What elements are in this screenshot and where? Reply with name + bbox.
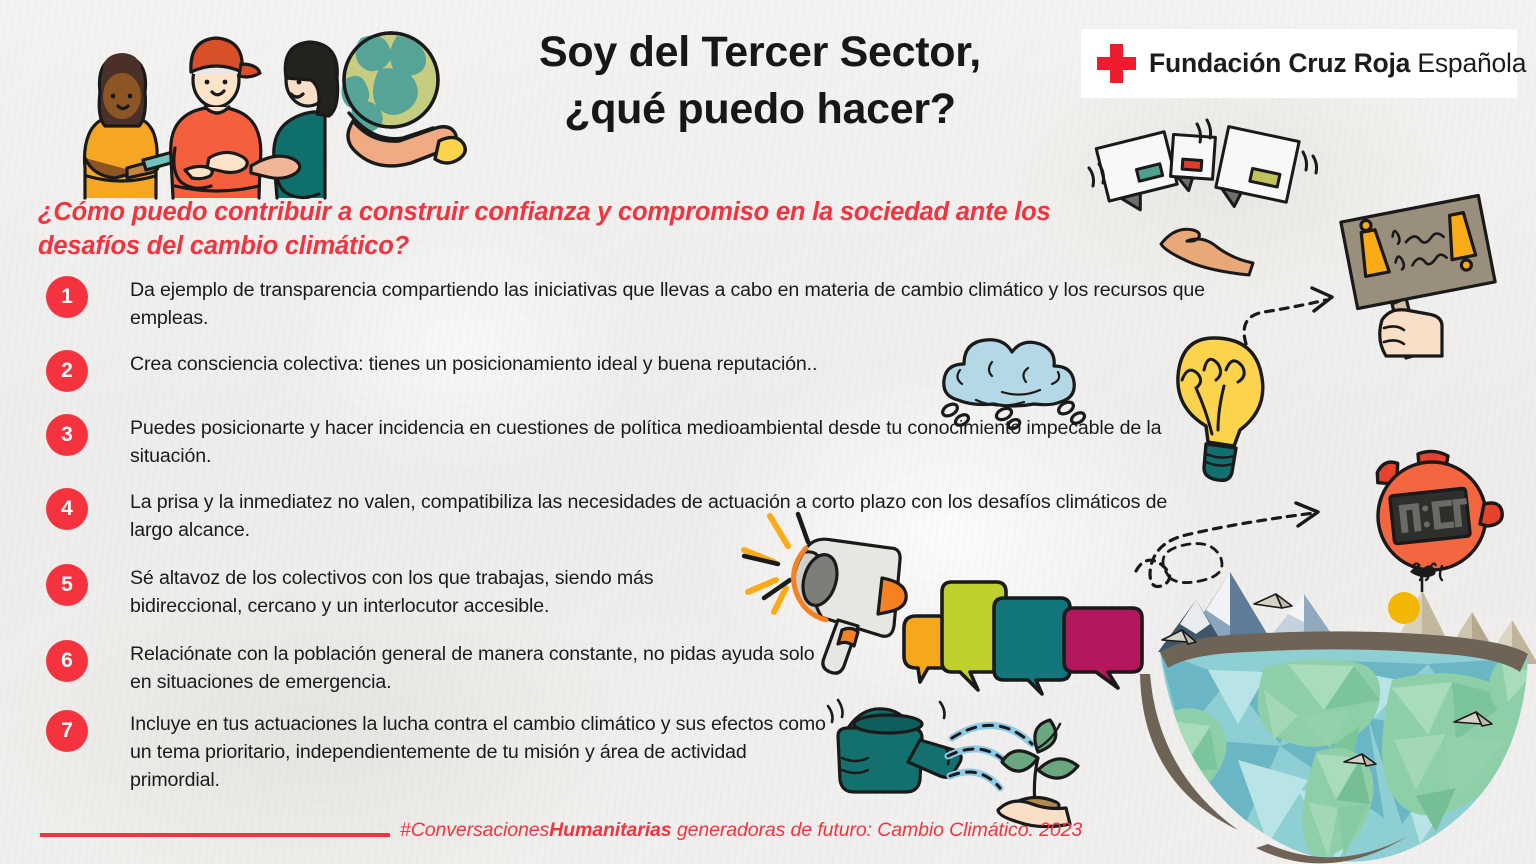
logo-text: Fundación Cruz Roja Española [1149,48,1526,79]
footer-campaign-text: #ConversacionesHumanitarias generadoras … [400,819,1082,842]
footer-divider [40,833,390,837]
low-poly-earth-illustration [1148,540,1536,864]
list-item-number-badge: 7 [46,710,88,752]
title-line-2: ¿qué puedo hacer? [430,81,1090,138]
list-item: 3Puedes posicionarte y hacer incidencia … [46,414,1195,471]
title-line-1: Soy del Tercer Sector, [430,24,1090,81]
footer-hashtag-bold: Humanitarias [549,819,671,841]
dashed-arrow-connector [1238,278,1353,348]
list-item-text: Incluye en tus actuaciones la lucha cont… [130,710,830,794]
list-item: 7Incluye en tus actuaciones la lucha con… [46,710,830,794]
footer-hashtag-light: #Conversaciones [400,819,549,841]
footer-rest: generadoras de futuro: Cambio Climático.… [672,819,1083,841]
floating-cards-over-hand-illustration [1075,112,1315,262]
three-people-talking-illustration [55,8,325,198]
recommendations-list: 1Da ejemplo de transparencia compartiend… [46,276,1196,776]
subtitle-question: ¿Cómo puedo contribuir a construir confi… [38,196,1078,264]
list-item-text: Puedes posicionarte y hacer incidencia e… [130,414,1195,471]
list-item: 1Da ejemplo de transparencia compartiend… [46,276,1225,333]
list-item-text: Da ejemplo de transparencia compartiendo… [130,276,1225,333]
logo-text-light: Española [1417,48,1526,78]
list-item-number-badge: 2 [46,350,88,392]
list-item-number-badge: 3 [46,414,88,456]
red-cross-icon [1097,44,1136,83]
page-title: Soy del Tercer Sector, ¿qué puedo hacer? [430,24,1090,138]
list-item: 6Relaciónate con la población general de… [46,640,830,697]
list-item-number-badge: 4 [46,488,88,530]
list-item-text: La prisa y la inmediatez no valen, compa… [130,488,1205,545]
list-item-number-badge: 6 [46,640,88,682]
list-item: 5Sé altavoz de los colectivos con los qu… [46,564,770,621]
list-item: 2Crea consciencia colectiva: tienes un p… [46,350,1225,392]
protest-sign-in-hand-illustration [1330,196,1510,356]
list-item: 4La prisa y la inmediatez no valen, comp… [46,488,1205,545]
list-item-text: Relaciónate con la población general de … [130,640,830,697]
list-item-text: Crea consciencia colectiva: tienes un po… [130,350,1225,379]
list-item-number-badge: 5 [46,564,88,606]
cruz-roja-logo: Fundación Cruz Roja Española [1081,29,1517,98]
list-item-text: Sé altavoz de los colectivos con los que… [130,564,770,621]
list-item-number-badge: 1 [46,276,88,318]
logo-text-bold: Fundación Cruz Roja [1149,48,1410,78]
